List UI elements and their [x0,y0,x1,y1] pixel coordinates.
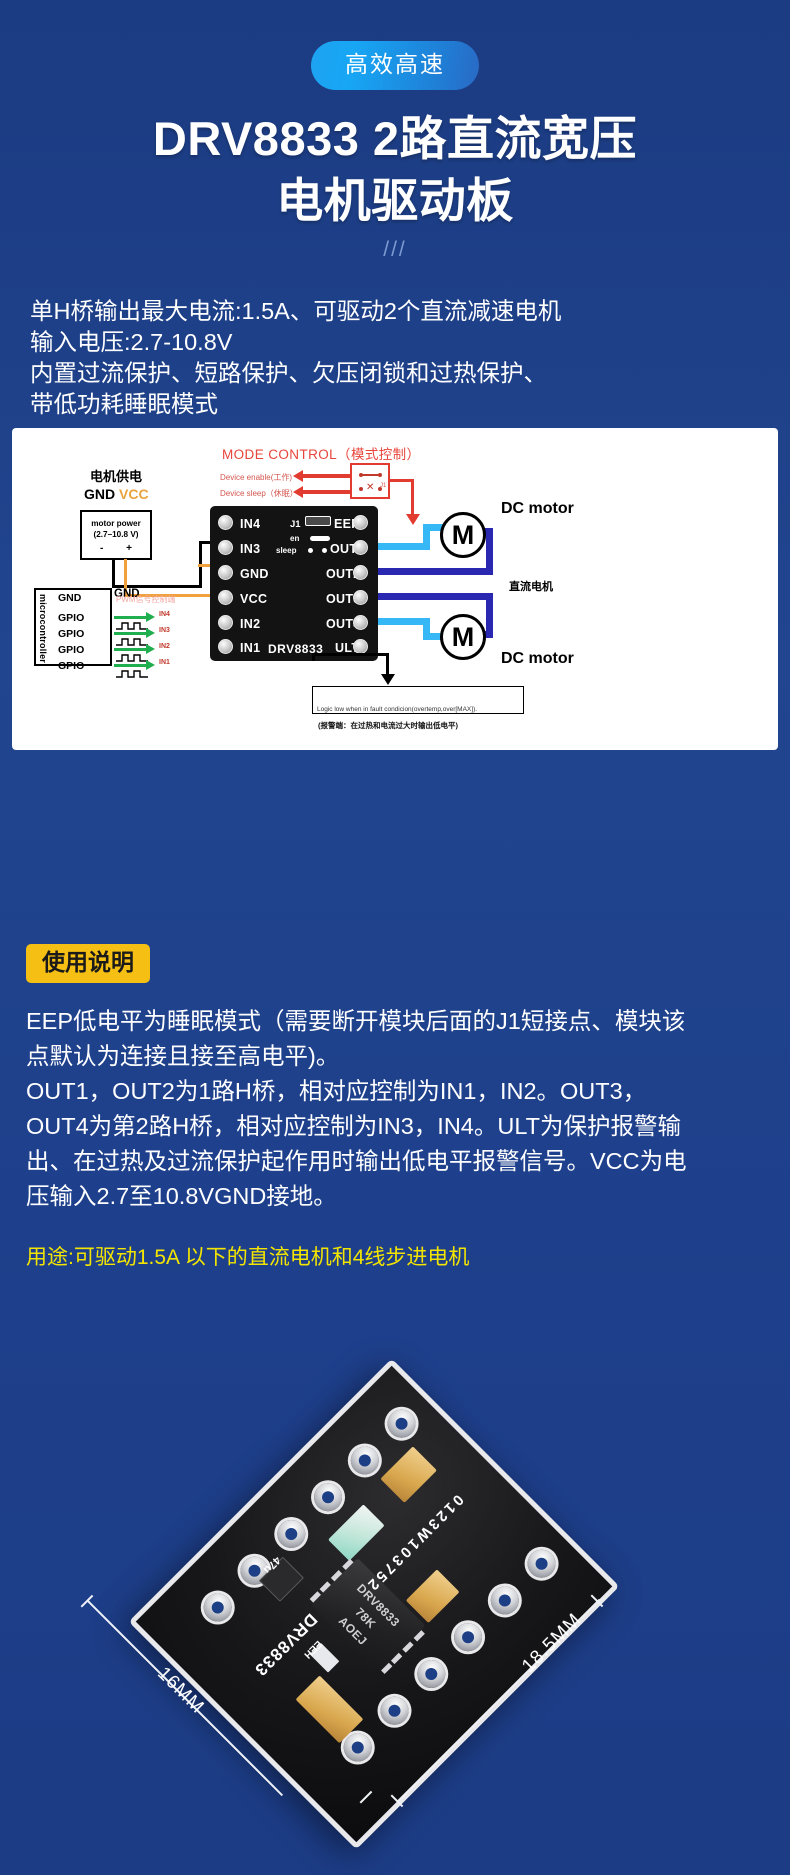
power-gnd-label: GND [84,486,115,502]
fault-condition-box: Logic low when in fault condicion(overte… [312,686,524,714]
page-title: DRV8833 2路直流宽压 电机驱动板 [0,108,790,232]
wiring-diagram-panel: MODE CONTROL（模式控制） Device enable(工作) Dev… [12,428,778,750]
spec-line-3: 内置过流保护、短路保护、欠压闭锁和过热保护、 [30,358,770,389]
mcu-gnd-pin: GND [58,592,81,604]
power-minus: - [100,543,103,554]
fault-condition-cn-note: (报警端：在过热和电流过大时输出低电平) [318,720,458,731]
dc-motor-cn-label: 直流电机 [509,578,553,594]
product-detail-page: 高效高速 DRV8833 2路直流宽压 电机驱动板 /// 单H桥输出最大电流:… [0,0,790,1875]
pcb-board-image: DRV8833 78K AOEJ 0123W103752 DRV8833 47u… [129,1359,620,1850]
fault-condition-text: Logic low when in fault condicion(overte… [317,706,477,713]
signal-arrow-in4: IN4 [114,613,158,620]
out2-wire-navy-up [486,528,493,575]
dc-motor-bottom-symbol: M [440,614,486,660]
j1-arrow-icon [406,514,420,525]
title-line-2: 电机驱动板 [0,170,790,232]
sleep-arrow-icon [302,490,350,494]
pin-left-gnd: GND [240,567,269,581]
mcu-gpio-pin-3: GPIO [58,644,84,656]
divider-ornament: /// [0,238,790,262]
out3-wire-navy [378,593,493,600]
dc-motor-top-symbol: M [440,512,486,558]
pcb-silk-serial: 0123W103752 [362,1491,466,1595]
usage-line-6: 压输入2.7至10.8VGND接地。 [26,1179,768,1214]
mcu-gpio-pin-1: GPIO [58,612,84,624]
device-sleep-label: Device sleep（休眠） [220,488,298,499]
title-line-1: DRV8833 2路直流宽压 [0,108,790,170]
mode-control-title: MODE CONTROL（模式控制） [222,443,420,463]
signal-name-in1: IN1 [159,659,170,666]
power-vcc-label: VCC [119,486,149,502]
power-polarity: - + [82,542,150,556]
board-j1-silk: J1 [290,519,301,530]
pin-left-in4: IN4 [240,517,260,531]
usage-line-5: 出、在过热及过流保护起作用时输出低电平报警信号。VCC为电 [26,1144,768,1179]
pin-left-vcc: VCC [240,592,267,606]
power-box-line-1: motor power [82,518,150,529]
dc-motor-top-label: DC motor [501,500,574,518]
spec-list: 单H桥输出最大电流:1.5A、可驱动2个直流减速电机 输入电压:2.7-10.8… [30,296,770,420]
usage-section-tag: 使用说明 [26,944,150,983]
ult-wire-stub [312,653,315,661]
pin-left-in1: IN1 [240,641,260,655]
header-badge-container: 高效高速 [0,41,790,90]
drv8833-module-graphic: IN4 J1 EEP en IN3 sleep OUT1 GND OUT2 VC… [210,506,378,661]
spec-line-4: 带低功耗睡眠模式 [30,389,770,420]
pwm-control-note: PWM信号控制端 [116,594,176,605]
enable-arrow-icon [302,474,350,478]
power-box-line-2: (2.7–10.8 V) [82,529,150,540]
microcontroller-label: microcontroller [38,594,48,663]
signal-name-in4: IN4 [159,611,170,618]
usage-line-3: OUT1，OUT2为1路H桥，相对应控制为IN1，IN2。OUT3， [26,1074,768,1109]
product-photo: DRV8833 78K AOEJ 0123W103752 DRV8833 47u… [0,1300,790,1875]
signal-name-in2: IN2 [159,643,170,650]
mcu-gpio-pin-2: GPIO [58,628,84,640]
signal-name-in3: IN3 [159,627,170,634]
spec-line-1: 单H桥输出最大电流:1.5A、可驱动2个直流减速电机 [30,296,770,327]
spec-line-2: 输入电压:2.7-10.8V [30,327,770,358]
power-plus: + [126,543,132,554]
usage-line-4: OUT4为第2路H桥，相对应控制为IN3，IN4。ULT为保护报警输 [26,1109,768,1144]
motor-power-box: motor power (2.7–10.8 V) - + [80,510,152,560]
j1-jumper-diagram: ✕ [350,463,390,499]
motor-power-pins: GND VCC [84,486,149,502]
microcontroller-box: microcontroller GND GPIO GPIO GPIO GPIO [34,588,112,666]
board-sleep-silk: sleep [276,546,296,555]
mcu-gpio-pin-4: GPIO [58,660,84,672]
pin-left-in2: IN2 [240,617,260,631]
j1-wire-drop [411,479,414,517]
usage-line-2: 点默认为连接且接至高电平)。 [26,1039,768,1074]
usage-line-1: EEP低电平为睡眠模式（需要断开模块后面的J1短接点、模块该 [26,1004,768,1039]
feature-badge: 高效高速 [311,41,479,90]
signal-arrow-in1: IN1 [114,661,158,668]
motor-power-title: 电机供电 [90,466,142,485]
fault-arrow-icon [381,674,395,685]
signal-arrow-in3: IN3 [114,629,158,636]
usage-purpose-text: 用途:可驱动1.5A 以下的直流电机和4线步进电机 [26,1245,768,1270]
j1-label: J1 [380,483,386,489]
dc-motor-bottom-label: DC motor [501,650,574,668]
out2-wire-navy [378,568,493,575]
power-gnd-wire-v [112,559,115,587]
device-enable-label: Device enable(工作) [220,472,292,483]
signal-arrow-in2: IN2 [114,645,158,652]
pin-left-in3: IN3 [240,542,260,556]
board-en-silk: en [290,534,299,543]
usage-description: EEP低电平为睡眠模式（需要断开模块后面的J1短接点、模块该 点默认为连接且接至… [26,1004,768,1214]
fault-line-horizontal [312,653,389,656]
